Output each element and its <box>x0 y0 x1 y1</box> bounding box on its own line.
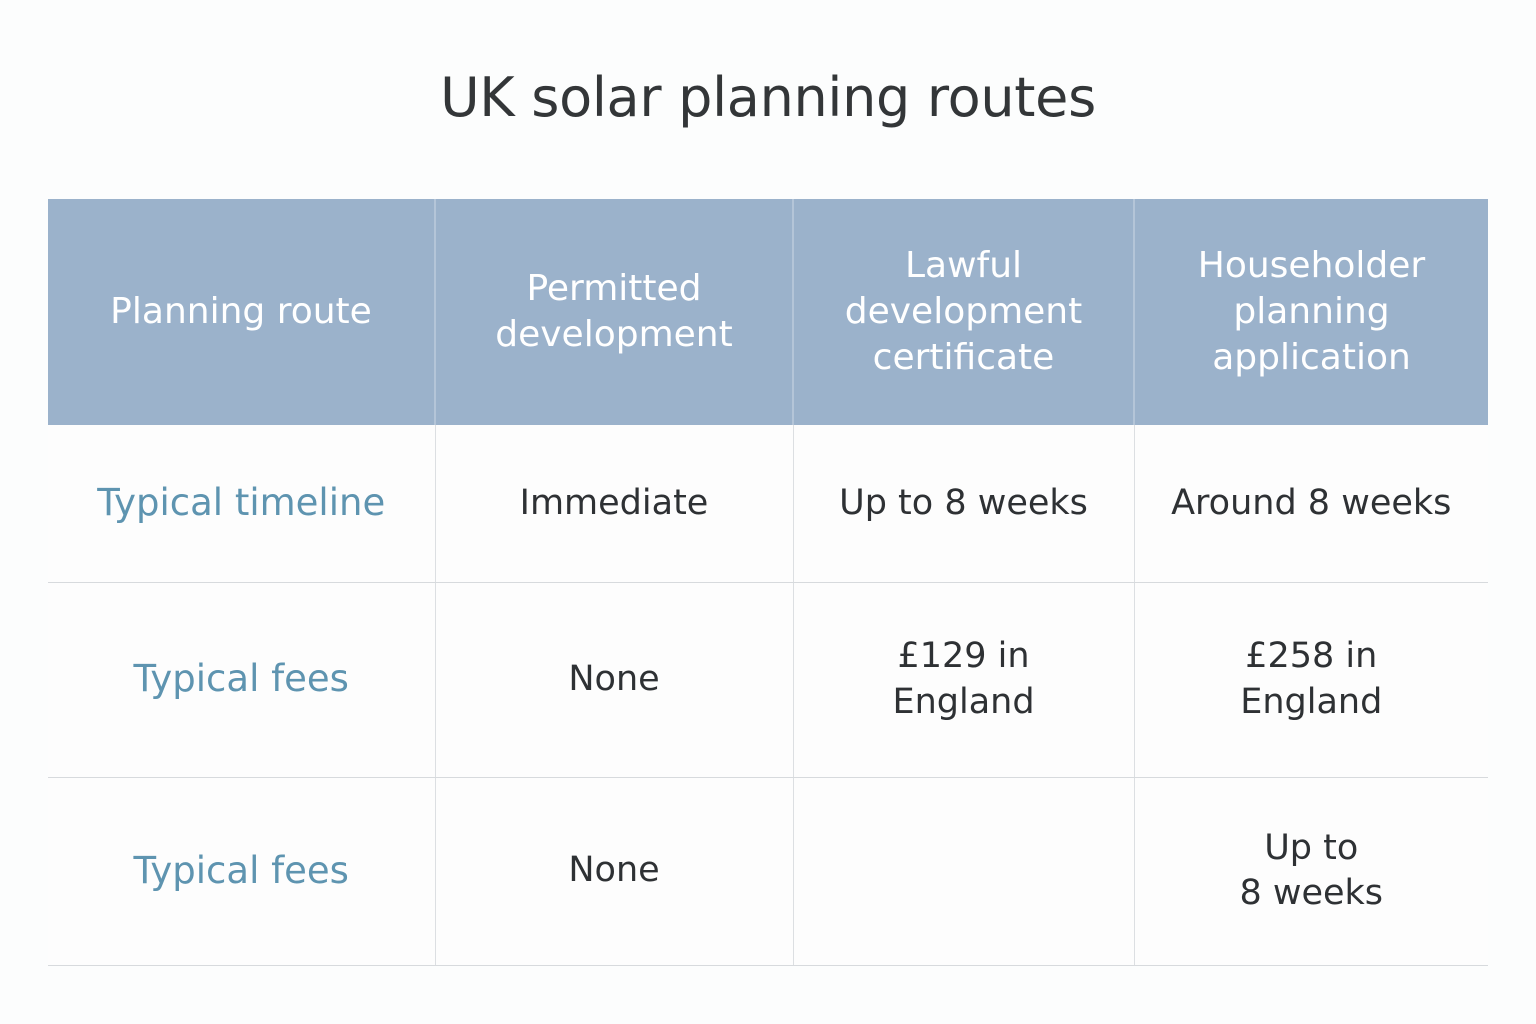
cell-text-line: England <box>808 680 1120 726</box>
column-header-planning-route: Planning route <box>48 199 435 425</box>
cell-fees-secondary-lawful-development-certificate <box>793 777 1134 965</box>
header-label-line: certificate <box>810 335 1117 381</box>
cell-timeline-householder-planning-application: Around 8 weeks <box>1134 425 1488 582</box>
column-header-householder-planning-application: Householder planning application <box>1134 199 1488 425</box>
cell-text-line: £258 in <box>1149 634 1475 680</box>
header-label-line: development <box>452 312 776 358</box>
table-row: Typical timeline Immediate Up to 8 weeks… <box>48 425 1488 582</box>
row-label-typical-timeline: Typical timeline <box>48 425 435 582</box>
page-title: UK solar planning routes <box>0 68 1536 127</box>
header-label-line: application <box>1151 335 1472 381</box>
cell-text-line: Up to <box>1149 826 1475 872</box>
row-label-typical-fees-secondary: Typical fees <box>48 777 435 965</box>
table-row: Typical fees None Up to 8 weeks <box>48 777 1488 965</box>
cell-text-line: England <box>1149 680 1475 726</box>
cell-fees-secondary-householder-planning-application: Up to 8 weeks <box>1134 777 1488 965</box>
cell-timeline-permitted-development: Immediate <box>435 425 793 582</box>
column-header-permitted-development: Permitted development <box>435 199 793 425</box>
table-header: Planning route Permitted development Law… <box>48 199 1488 425</box>
row-label-typical-fees: Typical fees <box>48 582 435 777</box>
table-body: Typical timeline Immediate Up to 8 weeks… <box>48 425 1488 965</box>
cell-text-line: 8 weeks <box>1149 871 1475 917</box>
planning-routes-table: Planning route Permitted development Law… <box>48 199 1488 966</box>
cell-fees-secondary-permitted-development: None <box>435 777 793 965</box>
cell-fees-lawful-development-certificate: £129 in England <box>793 582 1134 777</box>
table-row: Typical fees None £129 in England £258 i… <box>48 582 1488 777</box>
cell-fees-householder-planning-application: £258 in England <box>1134 582 1488 777</box>
routes-table-container: Planning route Permitted development Law… <box>48 199 1488 965</box>
header-label-line: Lawful <box>810 243 1117 289</box>
page-root: UK solar planning routes Planning route … <box>0 0 1536 1024</box>
cell-timeline-lawful-development-certificate: Up to 8 weeks <box>793 425 1134 582</box>
header-label-line: Permitted <box>452 266 776 312</box>
cell-fees-permitted-development: None <box>435 582 793 777</box>
cell-text-line: £129 in <box>808 634 1120 680</box>
header-label-line: Householder <box>1151 243 1472 289</box>
header-row: Planning route Permitted development Law… <box>48 199 1488 425</box>
column-header-lawful-development-certificate: Lawful development certificate <box>793 199 1134 425</box>
header-label-line: development <box>810 289 1117 335</box>
header-label-line: planning <box>1151 289 1472 335</box>
header-label-line: Planning route <box>64 289 418 335</box>
